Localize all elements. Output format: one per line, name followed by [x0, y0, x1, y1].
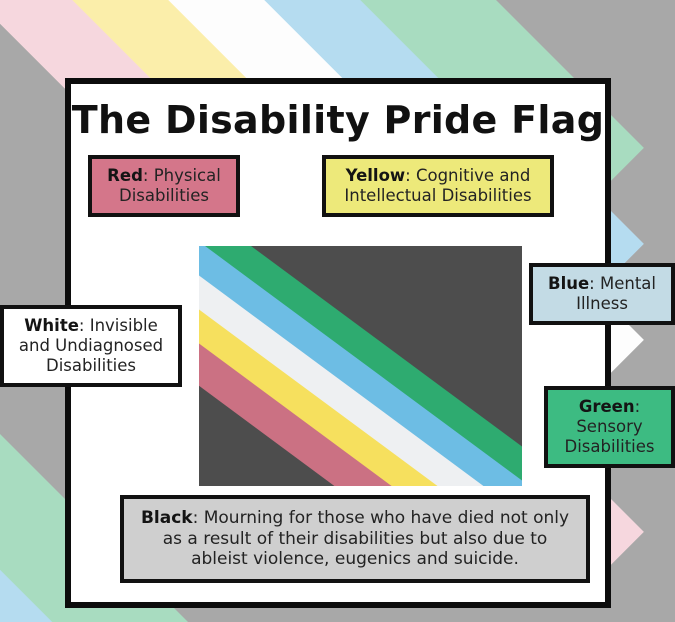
legend-item-red: Red: Physical Disabilities: [88, 155, 240, 217]
page-title: The Disability Pride Flag: [71, 98, 605, 142]
legend-separator-blue: :: [589, 274, 600, 293]
legend-separator-red: :: [143, 166, 154, 185]
legend-item-white: White: Invisible and Undiagnosed Disabil…: [0, 305, 182, 387]
legend-item-black: Black: Mourning for those who have died …: [120, 495, 590, 583]
legend-separator-green: :: [635, 397, 641, 416]
disability-pride-flag-image: [199, 246, 522, 486]
legend-color-name-red: Red: [107, 166, 143, 185]
legend-separator-yellow: :: [405, 166, 416, 185]
legend-color-name-white: White: [24, 316, 79, 335]
legend-separator-white: :: [79, 316, 90, 335]
legend-meaning-green: Sensory Disabilities: [564, 417, 654, 456]
legend-item-green: Green: Sensory Disabilities: [544, 386, 675, 468]
legend-color-name-black: Black: [141, 508, 193, 528]
legend-color-name-blue: Blue: [548, 274, 589, 293]
legend-meaning-black: Mourning for those who have died not onl…: [163, 508, 569, 569]
legend-color-name-green: Green: [579, 397, 635, 416]
legend-color-name-yellow: Yellow: [346, 166, 406, 185]
legend-item-blue: Blue: Mental Illness: [529, 263, 675, 325]
legend-item-yellow: Yellow: Cognitive and Intellectual Disab…: [322, 155, 554, 217]
legend-separator-black: :: [193, 508, 204, 528]
